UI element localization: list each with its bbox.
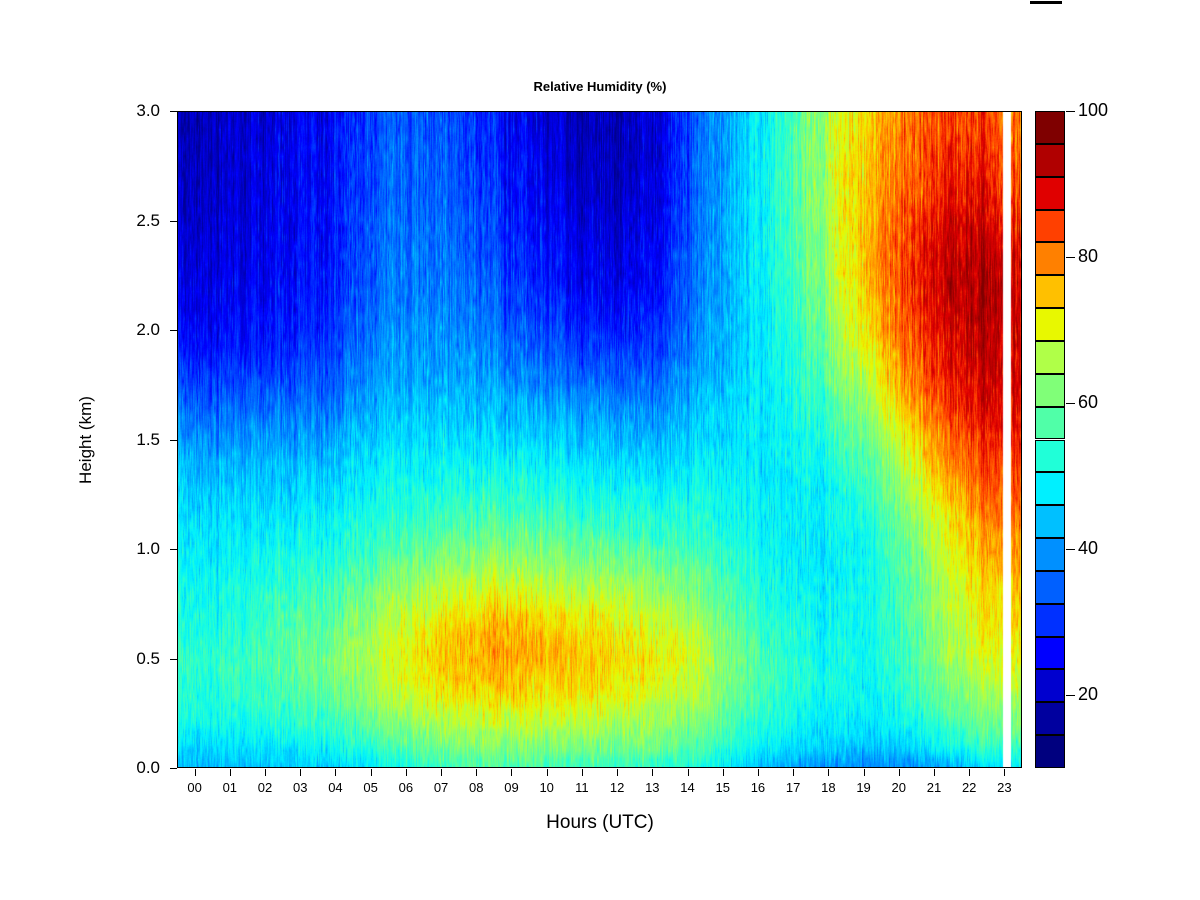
y-tick-mark xyxy=(170,111,177,112)
figure-canvas: Relative Humidity (%) 0.00.51.01.52.02.5… xyxy=(0,0,1200,900)
y-tick-mark xyxy=(170,330,177,331)
x-tick-label: 06 xyxy=(386,780,426,795)
x-tick-label: 12 xyxy=(597,780,637,795)
x-tick-mark xyxy=(547,769,548,776)
x-tick-mark xyxy=(617,769,618,776)
colorbar-tick-mark xyxy=(1066,695,1075,696)
colorbar-tick-mark xyxy=(1066,403,1075,404)
x-tick-label: 21 xyxy=(914,780,954,795)
colorbar-band xyxy=(1035,702,1065,735)
x-tick-mark xyxy=(441,769,442,776)
x-tick-mark xyxy=(511,769,512,776)
colorbar-band xyxy=(1035,735,1065,768)
colorbar-band xyxy=(1035,571,1065,604)
x-tick-mark xyxy=(828,769,829,776)
colorbar-band xyxy=(1035,374,1065,407)
relative-humidity-heatmap xyxy=(177,111,1022,768)
x-tick-mark xyxy=(723,769,724,776)
x-tick-mark xyxy=(195,769,196,776)
colorbar-band xyxy=(1035,242,1065,275)
x-tick-label: 15 xyxy=(703,780,743,795)
colorbar-band xyxy=(1035,210,1065,243)
y-axis-label: Height (km) xyxy=(76,360,96,520)
top-border-artifact xyxy=(1030,1,1062,4)
x-tick-mark xyxy=(582,769,583,776)
x-tick-label: 05 xyxy=(351,780,391,795)
x-tick-label: 19 xyxy=(844,780,884,795)
x-tick-mark xyxy=(652,769,653,776)
x-tick-label: 11 xyxy=(562,780,602,795)
x-tick-label: 23 xyxy=(984,780,1024,795)
colorbar-tick-mark xyxy=(1066,111,1075,112)
colorbar-tick-mark xyxy=(1066,257,1075,258)
colorbar-band xyxy=(1035,177,1065,210)
y-tick-mark xyxy=(170,440,177,441)
colorbar-band xyxy=(1035,637,1065,670)
y-tick-mark xyxy=(170,549,177,550)
colorbar-band xyxy=(1035,407,1065,440)
heatmap-plot-area xyxy=(177,111,1022,768)
x-tick-label: 10 xyxy=(527,780,567,795)
x-tick-mark xyxy=(758,769,759,776)
x-tick-label: 01 xyxy=(210,780,250,795)
x-tick-label: 16 xyxy=(738,780,778,795)
x-tick-label: 17 xyxy=(773,780,813,795)
x-tick-mark xyxy=(793,769,794,776)
x-tick-label: 14 xyxy=(668,780,708,795)
x-tick-mark xyxy=(371,769,372,776)
x-tick-mark xyxy=(335,769,336,776)
colorbar-band xyxy=(1035,538,1065,571)
colorbar-band xyxy=(1035,604,1065,637)
x-tick-label: 09 xyxy=(491,780,531,795)
colorbar-band xyxy=(1035,472,1065,505)
colorbar-band xyxy=(1035,275,1065,308)
x-tick-mark xyxy=(1004,769,1005,776)
x-tick-mark xyxy=(934,769,935,776)
x-tick-mark xyxy=(688,769,689,776)
colorbar-band xyxy=(1035,505,1065,538)
x-tick-mark xyxy=(476,769,477,776)
x-tick-label: 20 xyxy=(879,780,919,795)
colorbar-tick-mark xyxy=(1066,549,1075,550)
colorbar-band xyxy=(1035,440,1065,473)
x-axis-label: Hours (UTC) xyxy=(0,812,1200,834)
y-axis-label-wrap: Height (km) xyxy=(56,0,86,900)
colorbar-band xyxy=(1035,308,1065,341)
colorbar-tick-label: 20 xyxy=(1078,685,1138,703)
colorbar-tick-label: 80 xyxy=(1078,247,1138,265)
colorbar-tick-label: 60 xyxy=(1078,393,1138,411)
colorbar xyxy=(1035,111,1065,768)
x-tick-mark xyxy=(969,769,970,776)
x-tick-mark xyxy=(230,769,231,776)
colorbar-band xyxy=(1035,669,1065,702)
colorbar-band xyxy=(1035,111,1065,144)
x-tick-mark xyxy=(899,769,900,776)
x-tick-label: 22 xyxy=(949,780,989,795)
x-tick-mark xyxy=(265,769,266,776)
x-tick-label: 02 xyxy=(245,780,285,795)
colorbar-tick-label: 40 xyxy=(1078,539,1138,557)
colorbar-band xyxy=(1035,144,1065,177)
x-tick-label: 13 xyxy=(632,780,672,795)
x-tick-label: 00 xyxy=(175,780,215,795)
x-tick-label: 04 xyxy=(315,780,355,795)
y-tick-mark xyxy=(170,768,177,769)
y-tick-mark xyxy=(170,221,177,222)
x-tick-label: 07 xyxy=(421,780,461,795)
page-title: Relative Humidity (%) xyxy=(0,79,1200,94)
x-tick-mark xyxy=(864,769,865,776)
x-tick-mark xyxy=(300,769,301,776)
colorbar-band xyxy=(1035,341,1065,374)
x-tick-label: 08 xyxy=(456,780,496,795)
y-tick-mark xyxy=(170,659,177,660)
x-tick-label: 03 xyxy=(280,780,320,795)
x-tick-label: 18 xyxy=(808,780,848,795)
colorbar-tick-label: 100 xyxy=(1078,101,1138,119)
x-tick-mark xyxy=(406,769,407,776)
